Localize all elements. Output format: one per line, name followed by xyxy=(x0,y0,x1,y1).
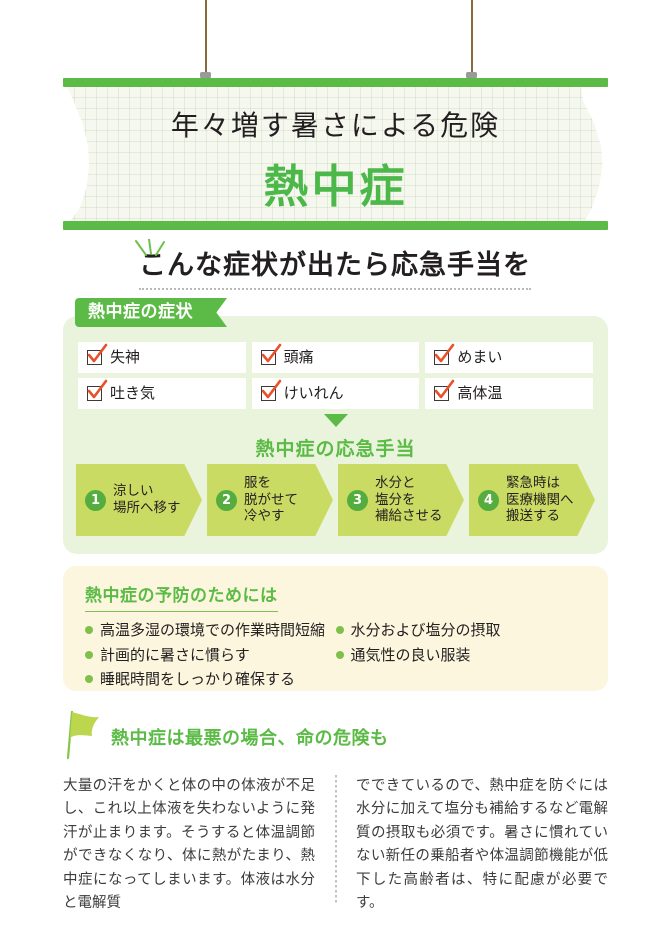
prevention-title: 熱中症の予防のためには xyxy=(85,581,278,612)
prevention-item-label: 水分および塩分の摂取 xyxy=(351,621,501,641)
symptoms-grid: 失神 頭痛 めまい 吐き気 xyxy=(78,342,593,409)
body-text-columns: 大量の汗をかくと体の中の体液が不足し、これ以上体液を失わないように発汗が止まりま… xyxy=(63,775,608,916)
first-aid-title: 熱中症の応急手当 xyxy=(63,434,608,461)
bullet-icon xyxy=(336,651,344,659)
banner-header: 年々増す暑さによる危険 熱中症 xyxy=(0,0,670,232)
prevention-column-right: 水分および塩分の摂取 通気性の良い服装 xyxy=(336,621,587,695)
checked-checkbox-icon[interactable] xyxy=(434,386,449,401)
symptom-item[interactable]: 頭痛 xyxy=(252,342,420,373)
prevention-column-left: 高温多湿の環境での作業時間短縮 計画的に暑さに慣らす 睡眠時間をしっかり確保する xyxy=(85,621,336,695)
hanging-cord-right xyxy=(471,0,473,78)
sparkle-icon xyxy=(133,239,167,265)
step-text: 緊急時は医療機関へ搬送する xyxy=(506,475,574,526)
hanging-cord-left xyxy=(205,0,207,78)
prevention-item-label: 通気性の良い服装 xyxy=(351,646,471,666)
bullet-icon xyxy=(336,626,344,634)
bullet-icon xyxy=(85,651,93,659)
symptom-label: 失神 xyxy=(110,350,140,365)
symptom-label: 高体温 xyxy=(457,386,502,401)
step-number: 2 xyxy=(216,490,237,511)
step-text: 涼しい場所へ移す xyxy=(113,483,181,517)
prevention-item-label: 高温多湿の環境での作業時間短縮 xyxy=(100,621,325,641)
prevention-box: 熱中症の予防のためには 高温多湿の環境での作業時間短縮 計画的に暑さに慣らす 睡… xyxy=(63,566,608,691)
prevention-item-label: 計画的に暑さに慣らす xyxy=(100,646,250,666)
symptom-label: 頭痛 xyxy=(284,350,314,365)
bottom-heading-block: 熱中症は最悪の場合、命の危険も xyxy=(63,710,608,758)
down-arrow-icon xyxy=(324,414,348,427)
checked-checkbox-icon[interactable] xyxy=(87,386,102,401)
prevention-item: 水分および塩分の摂取 xyxy=(336,621,587,641)
step-number: 1 xyxy=(85,490,106,511)
bullet-icon xyxy=(85,626,93,634)
checked-checkbox-icon[interactable] xyxy=(434,350,449,365)
symptom-item[interactable]: けいれん xyxy=(252,378,420,409)
prevention-item: 高温多湿の環境での作業時間短縮 xyxy=(85,621,336,641)
page-headline: こんな症状が出たら応急手当を xyxy=(139,243,531,290)
prevention-columns: 高温多湿の環境での作業時間短縮 計画的に暑さに慣らす 睡眠時間をしっかり確保する… xyxy=(85,621,586,695)
prevention-item: 通気性の良い服装 xyxy=(336,646,587,666)
body-text-left: 大量の汗をかくと体の中の体液が不足し、これ以上体液を失わないように発汗が止まりま… xyxy=(63,775,315,916)
symptoms-panel: 熱中症の症状 失神 頭痛 めまい xyxy=(63,316,608,554)
first-aid-step: 2 服を脱がせて冷やす xyxy=(207,464,333,536)
banner-bar-bottom xyxy=(63,221,608,230)
checked-checkbox-icon[interactable] xyxy=(261,350,276,365)
symptoms-tab-label: 熱中症の症状 xyxy=(75,298,227,327)
prevention-item: 計画的に暑さに慣らす xyxy=(85,646,336,666)
step-number: 4 xyxy=(478,490,499,511)
bullet-icon xyxy=(85,675,93,683)
banner-title: 熱中症 xyxy=(63,150,608,215)
symptom-label: けいれん xyxy=(284,386,344,401)
symptom-item[interactable]: 高体温 xyxy=(425,378,593,409)
step-text: 服を脱がせて冷やす xyxy=(244,475,298,526)
poster-page: 年々増す暑さによる危険 熱中症 こんな症状が出たら応急手当を 熱中症の症状 失神 xyxy=(0,0,670,951)
column-divider xyxy=(315,775,356,916)
checked-checkbox-icon[interactable] xyxy=(261,386,276,401)
symptom-item[interactable]: めまい xyxy=(425,342,593,373)
banner-text-block: 年々増す暑さによる危険 熱中症 xyxy=(63,78,608,215)
banner: 年々増す暑さによる危険 熱中症 xyxy=(63,78,608,230)
banner-subtitle: 年々増す暑さによる危険 xyxy=(63,104,608,144)
bottom-heading: 熱中症は最悪の場合、命の危険も xyxy=(111,724,389,750)
symptom-label: 吐き気 xyxy=(110,386,155,401)
first-aid-steps: 1 涼しい場所へ移す 2 服を脱がせて冷やす 3 水分と塩分を補給させる 4 緊… xyxy=(76,464,595,536)
first-aid-step: 1 涼しい場所へ移す xyxy=(76,464,202,536)
headline-block: こんな症状が出たら応急手当を xyxy=(0,243,670,290)
flag-icon xyxy=(63,708,109,760)
symptom-item[interactable]: 吐き気 xyxy=(78,378,246,409)
prevention-item-label: 睡眠時間をしっかり確保する xyxy=(100,670,295,690)
first-aid-step: 3 水分と塩分を補給させる xyxy=(338,464,464,536)
checked-checkbox-icon[interactable] xyxy=(87,350,102,365)
body-text-right: でできているので、熱中症を防ぐには水分に加えて塩分も補給するなど電解質の摂取も必… xyxy=(356,775,608,916)
symptom-item[interactable]: 失神 xyxy=(78,342,246,373)
prevention-item: 睡眠時間をしっかり確保する xyxy=(85,670,336,690)
step-number: 3 xyxy=(347,490,368,511)
first-aid-step: 4 緊急時は医療機関へ搬送する xyxy=(469,464,595,536)
symptom-label: めまい xyxy=(457,350,502,365)
step-text: 水分と塩分を補給させる xyxy=(375,475,443,526)
